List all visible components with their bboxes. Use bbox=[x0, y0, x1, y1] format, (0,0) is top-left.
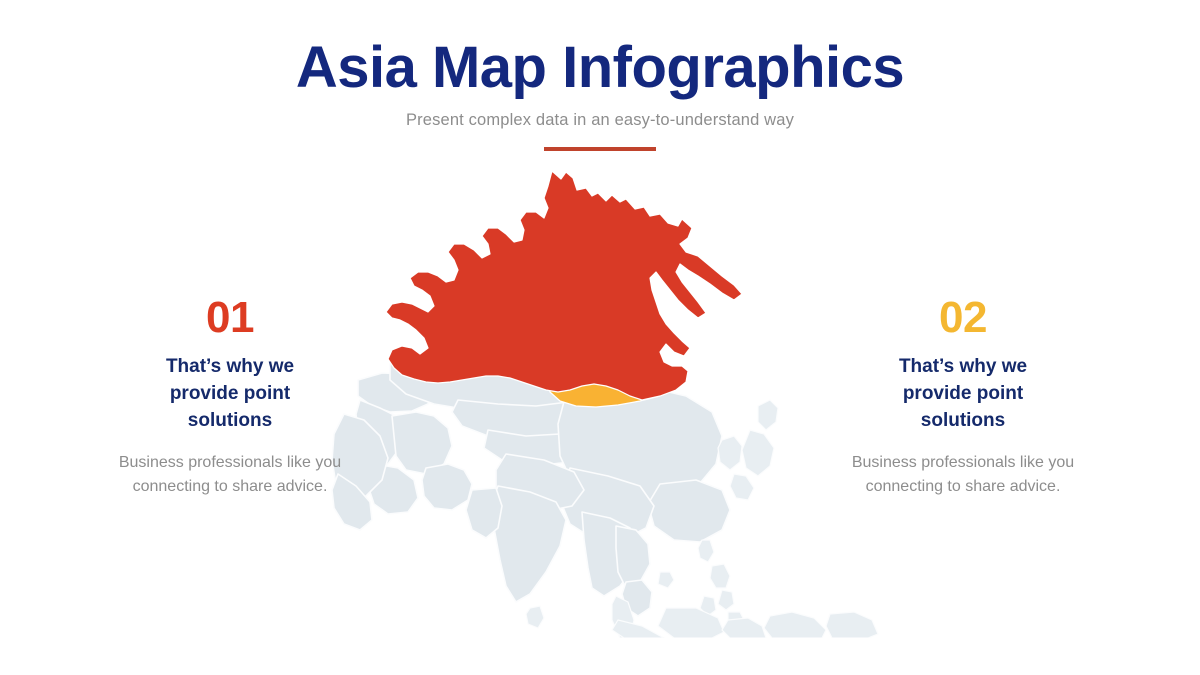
block-body-01: Business professionals like you connecti… bbox=[105, 451, 355, 499]
title-divider bbox=[544, 147, 656, 151]
block-heading-01: That’s why we provide point solutions bbox=[105, 354, 355, 435]
info-block-01: 01 That’s why we provide point solutions… bbox=[105, 296, 355, 499]
map-region-russia bbox=[386, 171, 742, 400]
block-heading-02: That’s why we provide point solutions bbox=[838, 354, 1088, 435]
header: Asia Map Infographics Present complex da… bbox=[0, 38, 1200, 152]
divider-wrap bbox=[0, 147, 1200, 152]
step-number-01: 01 bbox=[105, 296, 355, 340]
page-title: Asia Map Infographics bbox=[0, 38, 1200, 99]
info-block-02: 02 That’s why we provide point solutions… bbox=[838, 296, 1088, 499]
block-body-02: Business professionals like you connecti… bbox=[838, 451, 1088, 499]
slide-canvas: Asia Map Infographics Present complex da… bbox=[0, 0, 1200, 675]
page-subtitle: Present complex data in an easy-to-under… bbox=[0, 111, 1200, 130]
step-number-02: 02 bbox=[838, 296, 1088, 340]
asia-map bbox=[330, 168, 890, 638]
